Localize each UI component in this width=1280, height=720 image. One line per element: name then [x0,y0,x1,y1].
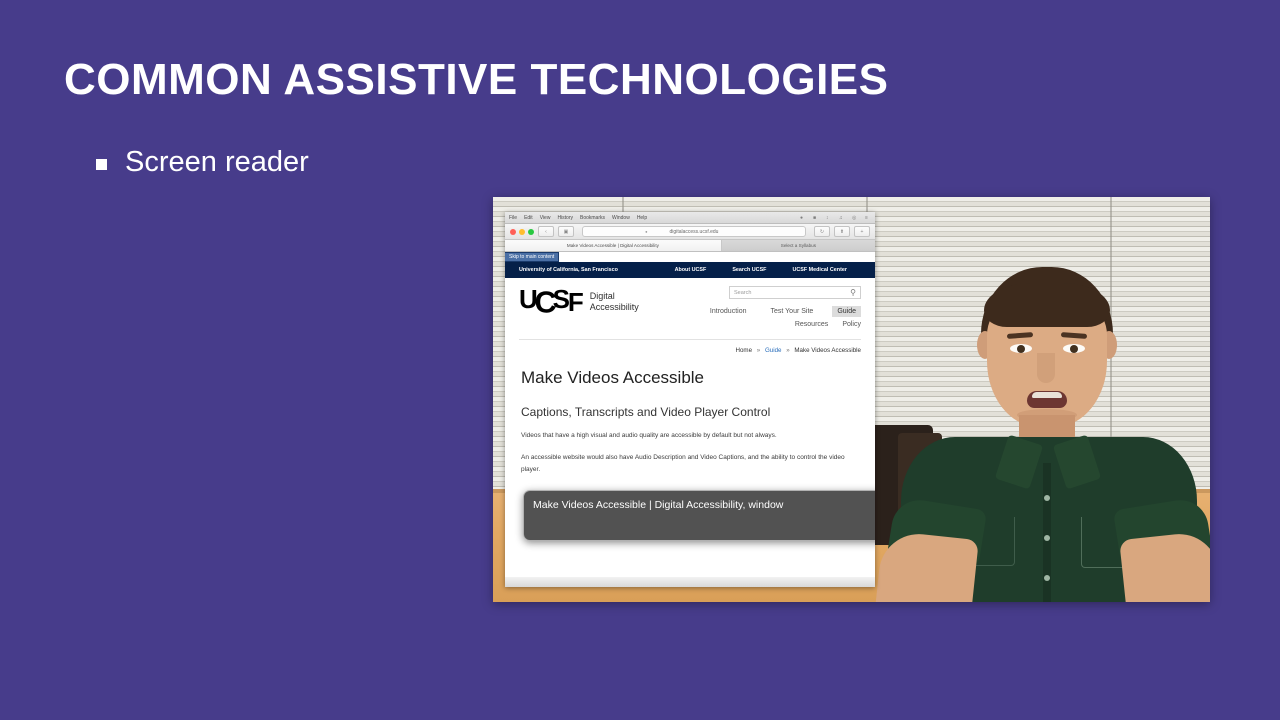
ucsf-global-nav[interactable]: University of California, San Francisco … [505,262,875,278]
nav-item-test-your-site[interactable]: Test Your Site [766,306,819,317]
skip-to-main-content-link[interactable]: Skip to main content [505,253,558,261]
breadcrumb-guide[interactable]: Guide [765,347,782,354]
shirt-button [1044,535,1050,541]
nav-item-resources[interactable]: Resources [795,321,828,328]
reload-button[interactable]: ↻ [814,226,830,237]
browser-tab-secondary[interactable]: Select a Syllabus [722,240,875,251]
shirt-button [1044,575,1050,581]
lock-icon: ● [645,229,647,234]
bullet-square-icon [96,159,107,170]
new-tab-button[interactable]: + [854,226,870,237]
nav-item-guide[interactable]: Guide [832,306,861,317]
hair-fringe [984,283,1110,327]
breadcrumb-current: Make Videos Accessible [794,347,861,354]
nose [1037,353,1055,383]
person-speaker [885,267,1210,602]
breadcrumb[interactable]: Home » Guide » Make Videos Accessible [505,340,875,354]
skip-link-row: Skip to main content [505,252,875,262]
window-bottom-edge [505,577,875,587]
minimize-icon[interactable] [519,229,525,235]
content-paragraph-1: Videos that have a high visual and audio… [521,430,859,442]
browser-tab-active[interactable]: Make Videos Accessible | Digital Accessi… [505,240,722,251]
window-controls[interactable] [510,229,534,235]
search-input[interactable]: Search ⚲ [729,286,861,299]
content-subheading: Captions, Transcripts and Video Player C… [521,404,859,420]
site-primary-nav[interactable]: Introduction Test Your Site Guide [705,306,861,317]
bullet-list-item: Screen reader [96,146,309,179]
page-content: Make Videos Accessible Captions, Transcr… [505,354,875,475]
close-icon[interactable] [510,229,516,235]
voiceover-caption-panel: Make Videos Accessible | Digital Accessi… [523,490,875,541]
site-nav-wrapper: Search ⚲ Introduction Test Your Site Gui… [705,286,861,328]
sidebar-toggle-button[interactable]: ▣ [558,226,574,237]
address-bar[interactable]: ● digitalaccess.ucsf.edu [582,226,806,237]
menu-item-file[interactable]: File [509,215,517,221]
menu-item-help[interactable]: Help [637,215,647,221]
breadcrumb-separator: » [786,347,789,354]
eye-left [1010,344,1032,353]
nav-item-policy[interactable]: Policy [842,321,861,328]
menu-item-edit[interactable]: Edit [524,215,533,221]
embedded-video-player[interactable]: File Edit View History Bookmarks Window … [493,197,1210,602]
site-secondary-nav[interactable]: Resources Policy [705,321,861,328]
mouth [1027,391,1067,408]
back-button[interactable]: ‹ [538,226,554,237]
site-name-line2: Accessibility [590,302,639,312]
ucsf-logo[interactable]: UCSF [519,288,582,310]
breadcrumb-home[interactable]: Home [736,347,753,354]
site-name-line1: Digital [590,291,615,301]
page-title: COMMON ASSISTIVE TECHNOLOGIES [64,55,888,105]
site-name: Digital Accessibility [590,291,639,312]
content-heading: Make Videos Accessible [521,368,859,388]
magnifier-icon[interactable]: ⚲ [850,288,856,297]
spotlight-icon[interactable]: ≡ [865,215,871,221]
browser-window[interactable]: File Edit View History Bookmarks Window … [505,212,875,587]
mac-menu-bar[interactable]: File Edit View History Bookmarks Window … [505,212,875,224]
browser-toolbar[interactable]: ‹ ▣ ● digitalaccess.ucsf.edu ↻ ⬆ + [505,224,875,240]
ucsf-global-links[interactable]: About UCSF Search UCSF UCSF Medical Cent… [675,267,861,273]
wifi-icon[interactable]: ● [800,215,806,221]
share-button[interactable]: ⬆ [834,226,850,237]
bullet-item-label: Screen reader [125,146,309,179]
link-about-ucsf[interactable]: About UCSF [675,267,707,273]
volume-icon[interactable]: ♫ [839,215,845,221]
bluetooth-icon[interactable]: ↕ [826,215,832,221]
menu-item-history[interactable]: History [557,215,573,221]
address-bar-url: digitalaccess.ucsf.edu [670,229,719,235]
battery-icon[interactable]: ■ [813,215,819,221]
maximize-icon[interactable] [528,229,534,235]
search-placeholder: Search [734,290,751,296]
ucsf-brand-label: University of California, San Francisco [519,267,618,273]
link-search-ucsf[interactable]: Search UCSF [732,267,766,273]
menu-item-view[interactable]: View [540,215,551,221]
presentation-slide: COMMON ASSISTIVE TECHNOLOGIES Screen rea… [0,0,1280,720]
voiceover-caption-text: Make Videos Accessible | Digital Accessi… [533,499,783,511]
shirt-placket [1043,463,1051,602]
eye-right [1063,344,1085,353]
site-header: UCSF Digital Accessibility Search ⚲ Intr… [505,278,875,332]
browser-tab-bar[interactable]: Make Videos Accessible | Digital Accessi… [505,240,875,252]
shirt-button [1044,495,1050,501]
nav-item-introduction[interactable]: Introduction [705,306,752,317]
clock-icon[interactable]: ◎ [852,215,858,221]
content-paragraph-2: An accessible website would also have Au… [521,452,859,475]
arm-right [1119,530,1210,602]
menu-item-window[interactable]: Window [612,215,630,221]
breadcrumb-separator: » [757,347,760,354]
menu-item-bookmarks[interactable]: Bookmarks [580,215,605,221]
link-ucsf-medical-center[interactable]: UCSF Medical Center [792,267,847,273]
